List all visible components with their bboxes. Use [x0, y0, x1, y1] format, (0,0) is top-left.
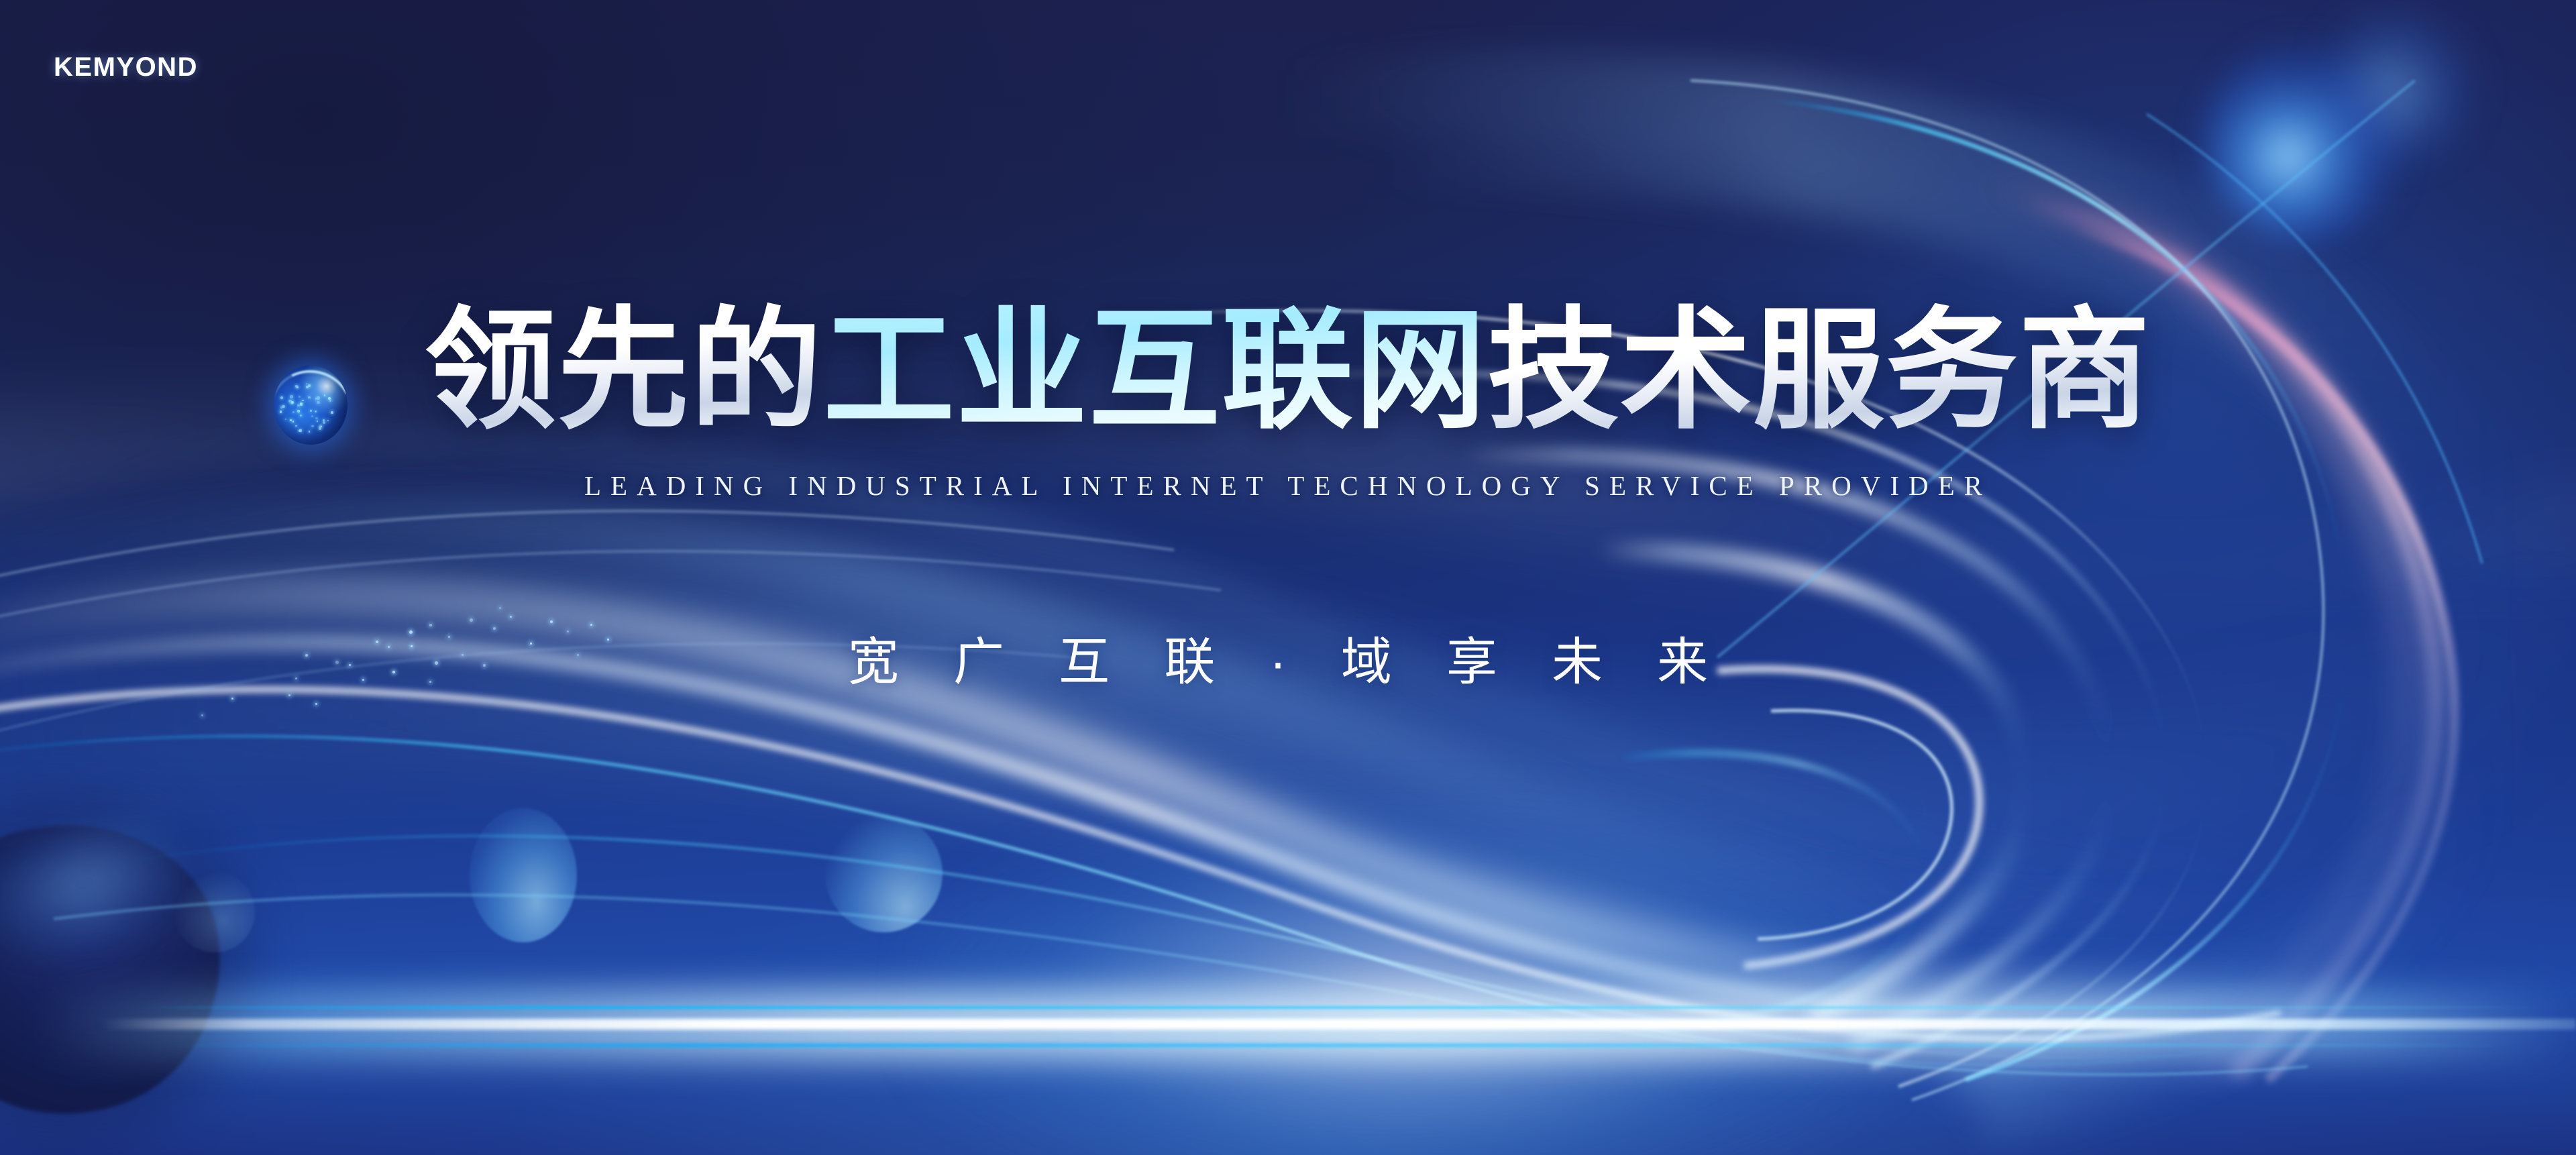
- headline: 领先的工业互联网技术服务商: [0, 305, 2576, 437]
- sparkle-dot: [499, 607, 501, 609]
- light-beam-core: [101, 1019, 2576, 1030]
- brand-logo: KEMYOND: [54, 52, 198, 82]
- banner-canvas: KEMYOND 领先的工业互联网技术服务商 LEADING INDUSTRIAL…: [0, 0, 2576, 1155]
- light-beam-cyan-top: [134, 1006, 2549, 1009]
- sparkle-dot: [201, 714, 203, 716]
- light-ribbon-swirl: [0, 0, 2576, 1155]
- sparkle-dot: [510, 616, 512, 618]
- sparkle-dot: [315, 703, 317, 705]
- headline-segment-1: 领先的: [425, 297, 823, 444]
- sparkle-dot: [288, 694, 290, 696]
- headline-segment-2: 工业互联网: [823, 297, 1487, 444]
- sparkle-dot: [231, 698, 233, 700]
- light-beam-cyan-bottom: [168, 1044, 2516, 1047]
- headline-segment-3: 技术服务商: [1487, 297, 2151, 444]
- tagline: 宽 广 互 联 · 域 享 未 来: [0, 620, 2576, 694]
- headline-subtitle-english: LEADING INDUSTRIAL INTERNET TECHNOLOGY S…: [0, 470, 2576, 502]
